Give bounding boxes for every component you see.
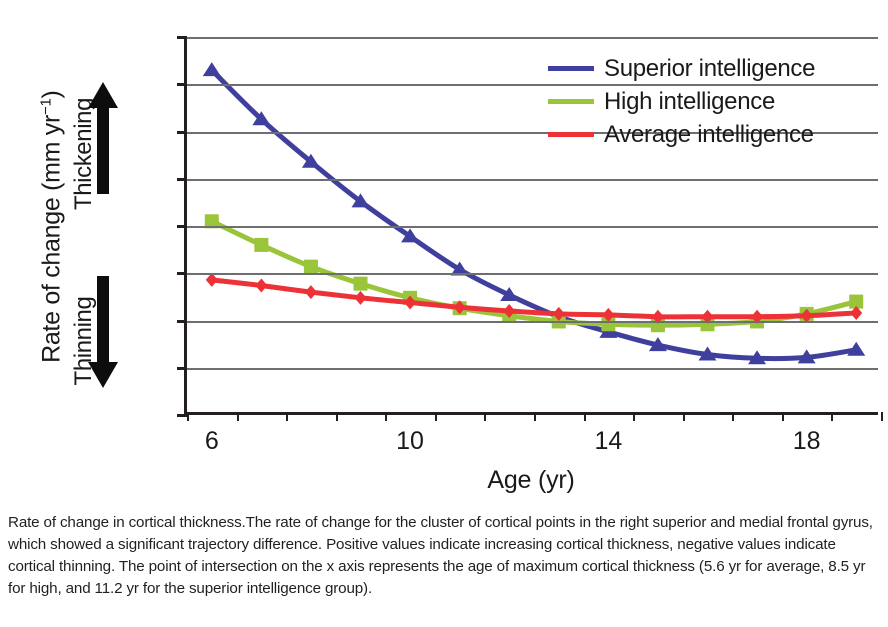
y-tick-mark [177,414,187,417]
legend-swatch-high [548,99,594,104]
y-tick-mark [177,83,187,86]
x-tick-label: 14 [578,427,638,456]
data-point-marker [354,277,368,291]
x-tick-mark [187,412,189,421]
gridline-y [187,179,878,181]
legend-item[interactable]: Superior intelligence [548,52,868,85]
arrow-down-icon [88,276,118,388]
figure-caption: Rate of change in cortical thickness.The… [8,512,880,600]
x-tick-mark [881,412,883,421]
x-axis-title: Age (yr) [184,466,878,495]
y-axis-title: Rate of change (mm yr−1) [37,27,66,427]
y-tick-mark [177,320,187,323]
data-point-marker [355,291,367,305]
legend-swatch-superior [548,66,594,71]
x-tick-mark [633,412,635,421]
y-tick-mark [177,36,187,39]
y-axis-title-text: Rate of change (mm yr [38,115,66,363]
data-point-marker [255,279,267,293]
data-point-marker [304,260,318,274]
x-tick-label: 18 [777,427,837,456]
arrow-up-icon [88,82,118,194]
x-tick-mark [286,412,288,421]
y-tick-mark [177,272,187,275]
x-tick-mark [435,412,437,421]
legend-swatch-average [548,132,594,137]
x-tick-mark [484,412,486,421]
legend-item[interactable]: Average intelligence [548,118,868,151]
x-tick-mark [534,412,536,421]
chart-legend: Superior intelligence High intelligence … [548,52,868,151]
x-tick-label: 10 [380,427,440,456]
x-tick-mark [584,412,586,421]
x-tick-mark [782,412,784,421]
y-tick-mark [177,131,187,134]
gridline-y [187,321,878,323]
data-point-marker [254,238,268,252]
legend-label-superior: Superior intelligence [604,55,815,83]
gridline-y [187,273,878,275]
gridline-y [187,368,878,370]
gridline-y [187,226,878,228]
legend-label-high: High intelligence [604,88,775,116]
y-tick-mark [177,367,187,370]
data-point-marker [203,62,221,76]
x-tick-label: 6 [182,427,242,456]
gridline-y [187,37,878,39]
x-tick-mark [683,412,685,421]
y-axis-title-close: ) [38,90,66,98]
figure-panel: Rate of change (mm yr−1) Thickening Thin… [0,0,888,512]
legend-item[interactable]: High intelligence [548,85,868,118]
series-average-intelligence [206,273,862,324]
legend-label-average: Average intelligence [604,121,814,149]
x-tick-mark [385,412,387,421]
x-tick-mark [237,412,239,421]
y-tick-mark [177,225,187,228]
series-line [212,280,856,317]
y-tick-mark [177,178,187,181]
y-axis-title-exponent: −1 [37,98,54,115]
x-tick-mark [831,412,833,421]
x-tick-mark [336,412,338,421]
x-tick-mark [732,412,734,421]
data-point-marker [305,285,317,299]
